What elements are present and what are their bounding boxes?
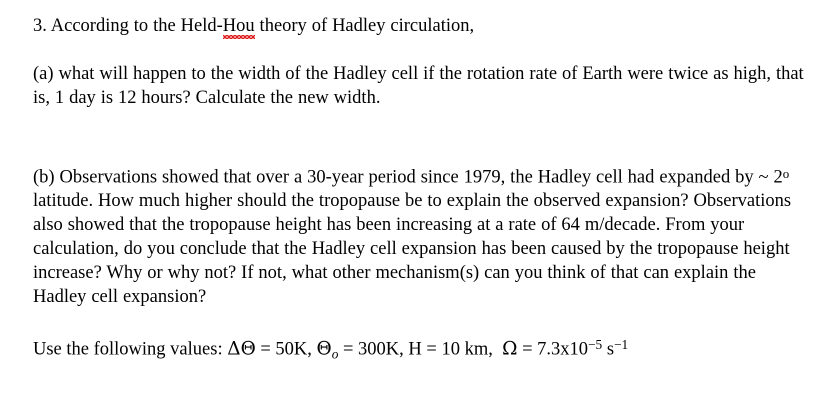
spacer-part-a-to-part-b-2 xyxy=(33,136,804,162)
omega-unit: s xyxy=(602,340,614,360)
scale-height-value: H = 10 km, xyxy=(408,340,492,360)
part-b-text-rest: latitude. How much higher should the tro… xyxy=(33,191,791,307)
omega-symbol: Ω xyxy=(502,339,517,360)
omega-exponent: −5 xyxy=(588,337,602,352)
part-a-paragraph: (a) what will happen to the width of the… xyxy=(33,62,804,110)
question-3-heading: 3. According to the Held-Hou theory of H… xyxy=(33,14,804,38)
spacer-part-a-to-part-b xyxy=(33,110,804,136)
document-page: 3. According to the Held-Hou theory of H… xyxy=(0,0,818,403)
question-heading-tail: theory of Hadley circulation, xyxy=(255,16,475,36)
part-b-paragraph: (b) Observations showed that over a 30-y… xyxy=(33,162,804,309)
omega-value: = 7.3x10 xyxy=(517,340,588,360)
given-values-line: Use the following values: ΔΘ = 50K, Θo =… xyxy=(33,333,804,366)
delta-theta-value: = 50K, xyxy=(256,340,312,360)
spacer-heading-to-part-a xyxy=(33,38,804,62)
question-number-text: 3. According to the Held- xyxy=(33,16,223,36)
theta-zero-value: = 300K, xyxy=(338,340,403,360)
values-lead-in: Use the following values: xyxy=(33,340,227,360)
degree-symbol: o xyxy=(783,166,789,181)
part-b-text-lead: (b) Observations showed that over a 30-y… xyxy=(33,167,783,187)
omega-unit-exponent: −1 xyxy=(614,337,628,352)
theta-zero-symbol: Θ xyxy=(317,339,332,360)
spellcheck-misspelled-word[interactable]: Hou xyxy=(223,14,255,38)
delta-theta-symbol: ΔΘ xyxy=(227,339,256,360)
spacer-part-b-to-values xyxy=(33,309,804,333)
